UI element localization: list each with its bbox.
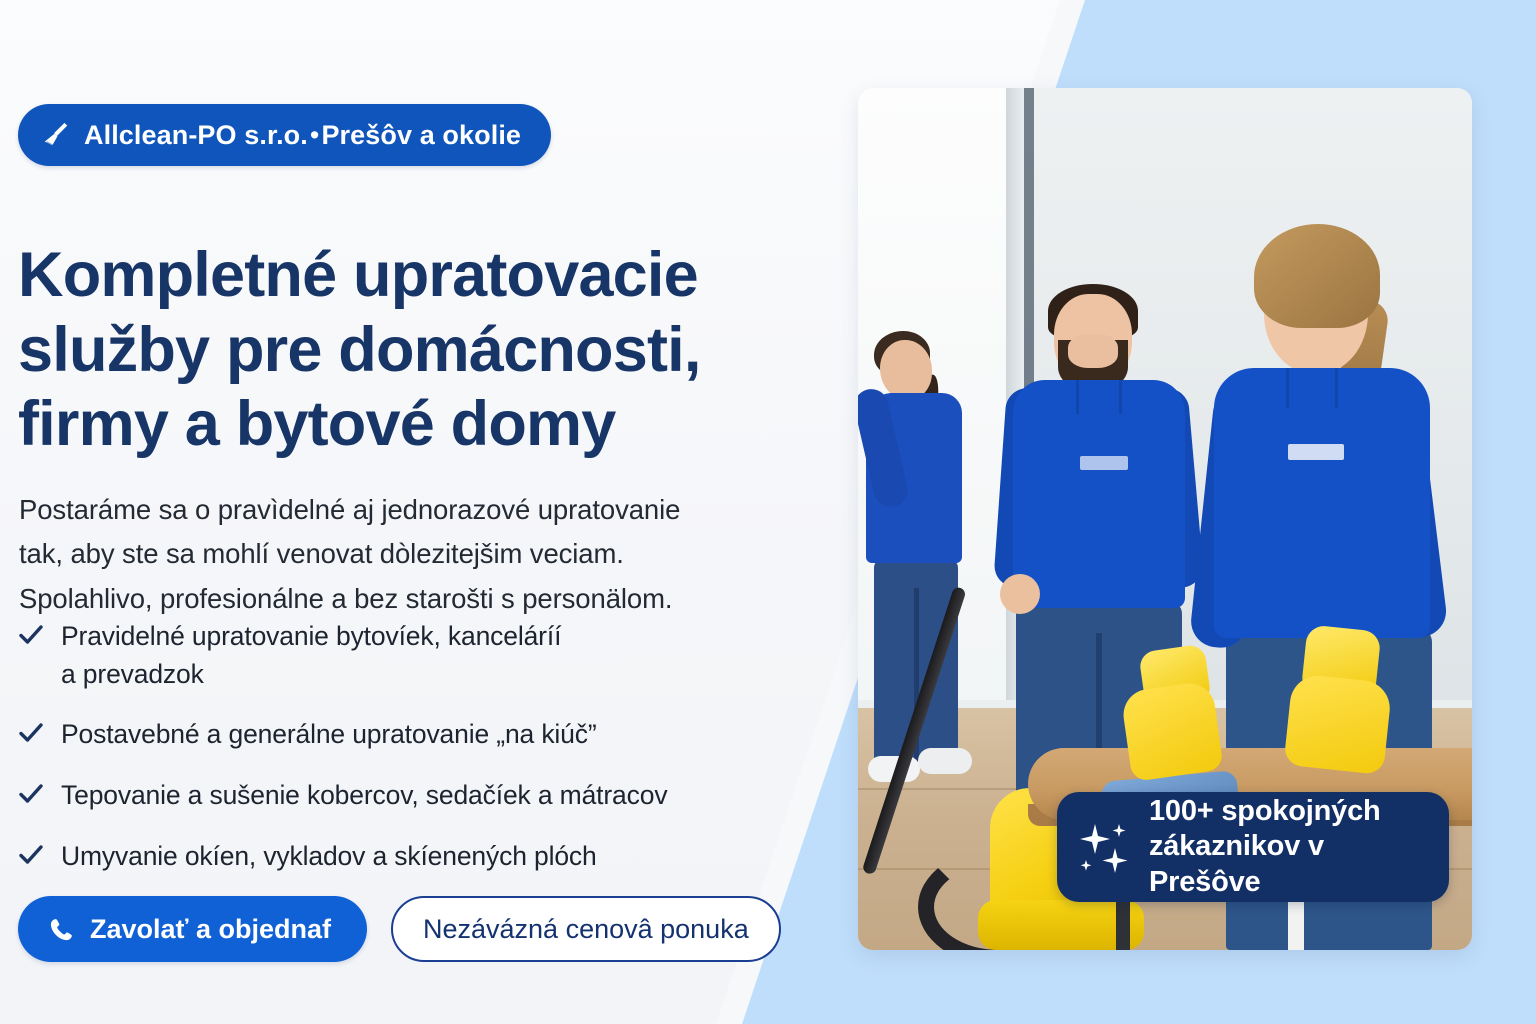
content-column: Allclean-PO s.r.o.•Prešôv a okolie Kompl…: [18, 0, 808, 1024]
headline-line-1: Kompletné upratovacie: [18, 240, 698, 310]
photo-person-man-logo: [1080, 456, 1128, 470]
photo-person-woman-polo: [1214, 368, 1430, 638]
photo-yellow-glove: [1120, 680, 1224, 782]
intro-paragraph: Postaráme sa o pravìdelné aj jednorazové…: [19, 488, 779, 622]
check-icon: [18, 840, 44, 870]
photo-person-woman-logo: [1288, 444, 1344, 460]
photo-person-woman-hair: [1254, 224, 1380, 328]
company-badge: Allclean-PO s.r.o.•Prešôv a okolie: [18, 104, 551, 166]
status-badge-label: 100+ spokojných zákaznikov v Prešôve: [1149, 794, 1427, 900]
company-name: Allclean-PO s.r.o.: [84, 120, 308, 150]
paragraph-line-2: tak, aby ste sa mohlí venovat dòlezitejš…: [19, 538, 624, 569]
list-item: Pravidelné upratovanie bytovíek, kancelá…: [18, 618, 788, 693]
list-item-label: Pravidelné upratovanie bytovíek, kancelá…: [61, 618, 561, 693]
check-icon: [18, 779, 44, 809]
paragraph-line-3: Spolahlivo, profesionálne a bez starošti…: [19, 583, 672, 614]
feature-list: Pravidelné upratovanie bytovíek, kancelá…: [18, 618, 788, 898]
photo-person-man-face: [1068, 334, 1118, 368]
photo-person-man-hand: [1000, 574, 1040, 614]
list-item-label: Postavebné a generálne upratovanie „na k…: [61, 716, 597, 754]
call-and-order-label: Zavolať a objednaf: [90, 914, 331, 945]
phone-icon: [48, 916, 75, 943]
paragraph-line-1: Postaráme sa o pravìdelné aj jednorazové…: [19, 494, 680, 525]
check-icon: [18, 718, 44, 748]
region-name: Prešôv a okolie: [321, 120, 521, 150]
list-item: Postavebné a generálne upratovanie „na k…: [18, 716, 788, 754]
headline-line-3: firmy a bytové domy: [18, 389, 615, 459]
page-title: Kompletné upratovacie služby pre domácno…: [18, 238, 808, 461]
badge-separator: •: [308, 120, 322, 150]
check-icon: [18, 620, 44, 650]
photo-person-man-polo: [1013, 380, 1185, 608]
photo-person-background-head: [880, 340, 932, 400]
status-badge-line-1: 100+ spokojných: [1149, 795, 1381, 827]
photo-person-woman-collar: [1286, 368, 1338, 408]
sparkles-icon: [1079, 818, 1131, 876]
photo-person-background-shoe: [918, 748, 972, 774]
feature-1-line-2: a prevadzok: [61, 659, 204, 689]
list-item-label: Umyvanie okíen, vykladov a skíenených pl…: [61, 838, 597, 876]
photo-yellow-glove: [1283, 673, 1392, 775]
list-item: Tepovanie a sušenie kobercov, sedačíek a…: [18, 777, 788, 815]
call-and-order-button[interactable]: Zavolať a objednaf: [18, 896, 367, 962]
company-badge-label: Allclean-PO s.r.o.•Prešôv a okolie: [84, 120, 521, 151]
free-quote-button[interactable]: Nezávázná cenovâ ponuka: [391, 896, 781, 962]
free-quote-label: Nezávázná cenovâ ponuka: [423, 914, 749, 945]
list-item-label: Tepovanie a sušenie kobercov, sedačíek a…: [61, 777, 667, 815]
broom-icon: [41, 120, 71, 150]
cta-row: Zavolať a objednaf Nezávázná cenovâ ponu…: [18, 896, 781, 962]
promo-banner: Allclean-PO s.r.o.•Prešôv a okolie Kompl…: [0, 0, 1536, 1024]
list-item: Umyvanie okíen, vykladov a skíenených pl…: [18, 838, 788, 876]
feature-1-line-1: Pravidelné upratovanie bytovíek, kancelá…: [61, 621, 561, 651]
photo-person-man-collar: [1076, 380, 1122, 414]
status-badge-line-2: zákaznikov v Prešôve: [1149, 830, 1324, 897]
headline-line-2: služby pre domácnosti,: [18, 315, 701, 385]
status-badge: 100+ spokojných zákaznikov v Prešôve: [1057, 792, 1449, 902]
